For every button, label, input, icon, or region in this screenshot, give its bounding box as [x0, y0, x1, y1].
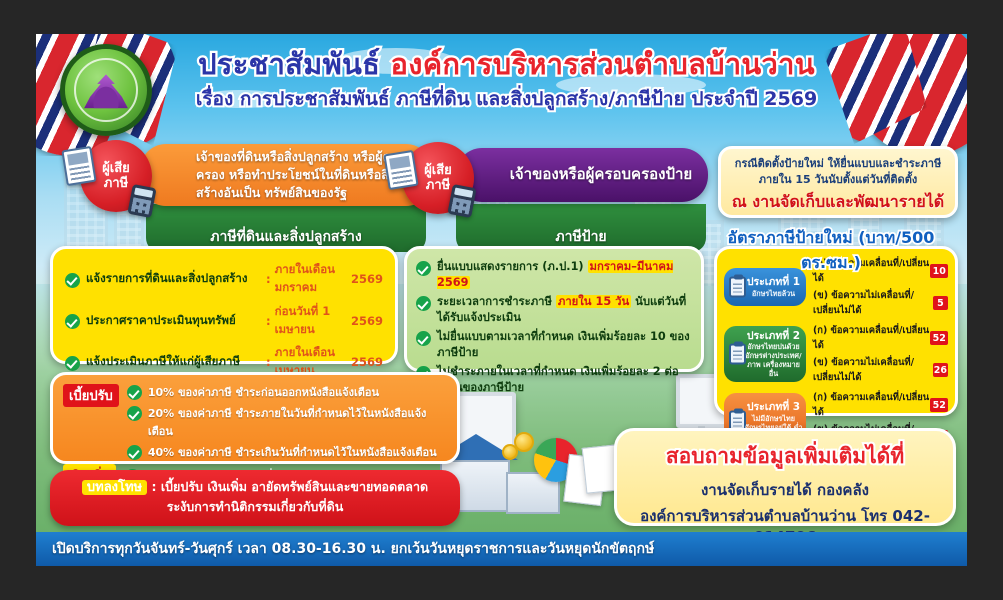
sign-tax-rules-box: ยื่นแบบแสดงรายการ (ภ.ป.1) มกราคม–มีนาคม …	[404, 246, 704, 372]
penalty-box: เบี้ยปรับ 10% ของค่าภาษี ชำระก่อนออกหนัง…	[50, 372, 460, 464]
category-title: ประเภทที่ 2	[747, 330, 800, 342]
sign-tax-tab-label: ภาษีป้าย	[456, 204, 706, 252]
rate-value: 52	[930, 398, 948, 412]
category-title: ประเภทที่ 3	[747, 401, 800, 413]
category-subtitle: อักษรไทยล้วน	[752, 289, 795, 298]
punishment-box: บทลงโทษ : เบี้ยปรับ เงินเพิ่ม อายัดทรัพย…	[50, 470, 460, 526]
notice-line-1: กรณีติดตั้งป้ายใหม่ ให้ยื่นแบบและชำระภาษ…	[729, 156, 947, 172]
check-icon	[127, 445, 142, 460]
rate-value: 26	[933, 363, 948, 377]
fine-line: 20% ของค่าภาษี ชำระภายในวันที่กำหนดไว้ใน…	[148, 404, 445, 440]
new-sign-notice-box: กรณีติดตั้งป้ายใหม่ ให้ยื่นแบบและชำระภาษ…	[718, 146, 958, 218]
badge-line-1: ผู้เสีย	[102, 161, 130, 176]
schedule-separator: :	[266, 314, 271, 328]
rate-line: (ก) ข้อความเคลื่อนที่/เปลี่ยนได้ 52	[813, 390, 948, 420]
list-item: ระยะเวลาการชำระภาษี ภายใน 15 วัน นับแต่ว…	[416, 294, 691, 325]
rate-description: (ก) ข้อความเคลื่อนที่/เปลี่ยนได้	[813, 323, 930, 353]
fine-line: 10% ของค่าภาษี ชำระก่อนออกหนังสือแจ้งเตื…	[148, 383, 379, 401]
rule-text: ระยะเวลาการชำระภาษี ภายใน 15 วัน นับแต่ว…	[437, 294, 691, 325]
schedule-label: ประกาศราคาประเมินทุนทรัพย์	[86, 312, 262, 330]
municipality-seal-logo	[60, 44, 152, 136]
rule-highlight: ภายใน 15 วัน	[556, 295, 631, 308]
table-row: แจ้งรายการที่ดินและสิ่งปลูกสร้าง : ภายใน…	[65, 261, 383, 297]
rule-text: ไม่ยื่นแบบตามเวลาที่กำหนด เงินเพิ่มร้อยล…	[437, 329, 691, 360]
footer-bar: เปิดบริการทุกวันจันทร์-วันศุกร์ เวลา 08.…	[36, 532, 967, 566]
title-part-announcement: ประชาสัมพันธ์	[198, 47, 390, 81]
sign-taxpayer-text: เจ้าของหรือผู้ครอบครองป้าย	[510, 164, 692, 185]
badge-line-2: ภาษี	[426, 178, 450, 193]
document-icon	[61, 146, 96, 186]
category-title: ประเภทที่ 1	[747, 276, 800, 288]
rate-description: (ก) ข้อความเคลื่อนที่/เปลี่ยนได้	[813, 390, 930, 420]
poster-title-block: ประชาสัมพันธ์ องค์การบริหารส่วนตำบลบ้านว…	[154, 48, 859, 114]
rate-value: 52	[930, 331, 948, 345]
list-item: 10% ของค่าภาษี ชำระก่อนออกหนังสือแจ้งเตื…	[127, 383, 445, 401]
punishment-line-2: ระงับการทำนิติกรรมเกี่ยวกับที่ดิน	[64, 497, 446, 517]
list-item: ยื่นแบบแสดงรายการ (ภ.ป.1) มกราคม–มีนาคม …	[416, 259, 691, 290]
footer-text: เปิดบริการทุกวันจันทร์-วันศุกร์ เวลา 08.…	[52, 538, 654, 560]
rule-text: ไม่ชำระภายในเวลาที่กำหนด เงินเพิ่มร้อยละ…	[437, 364, 691, 395]
rate-line: (ก) ข้อความเคลื่อนที่/เปลี่ยนได้ 52	[813, 323, 948, 353]
schedule-year: 2569	[347, 272, 383, 286]
rate-line: (ข) ข้อความไม่เคลื่อนที่/เปลี่ยนไม่ได้ 2…	[813, 355, 948, 385]
punishment-line-1: บทลงโทษ : เบี้ยปรับ เงินเพิ่ม อายัดทรัพย…	[64, 476, 446, 497]
rate-description: (ข) ข้อความไม่เคลื่อนที่/เปลี่ยนไม่ได้	[813, 355, 933, 385]
rate-table-heading: อัตราภาษีป้ายใหม่ (บาท/500 ตร.ซม.)	[696, 226, 966, 276]
notice-line-2: ภายใน 15 วันนับตั้งแต่วันที่ติดตั้ง	[729, 172, 947, 188]
notice-emphasis: ณ งานจัดเก็บและพัฒนารายได้	[729, 190, 947, 215]
rule-prefix: ยื่นแบบแสดงรายการ (ภ.ป.1)	[437, 260, 588, 273]
schedule-value: ก่อนวันที่ 1 เมษายน	[275, 303, 347, 339]
rate-description: (ข) ข้อความไม่เคลื่อนที่/เปลี่ยนไม่ได้	[813, 288, 933, 318]
check-icon	[127, 385, 142, 400]
schedule-value: ภายในเดือน มกราคม	[275, 261, 347, 297]
coin-illustration	[502, 444, 518, 460]
schedule-separator: :	[266, 355, 271, 369]
list-item: 40% ของค่าภาษี ชำระเกินวันที่กำหนดไว้ในห…	[127, 443, 445, 461]
penalty-fine-group: เบี้ยปรับ 10% ของค่าภาษี ชำระก่อนออกหนัง…	[63, 383, 445, 463]
document-icon	[383, 150, 418, 190]
schedule-year: 2569	[347, 314, 383, 328]
clipboard-check-icon	[729, 277, 746, 298]
contact-line-1: งานจัดเก็บรายได้ กองคลัง	[627, 478, 943, 502]
check-icon	[65, 273, 80, 288]
land-tax-tab-label: ภาษีที่ดินและสิ่งปลูกสร้าง	[146, 204, 426, 252]
page-title: ประชาสัมพันธ์ องค์การบริหารส่วนตำบลบ้านว…	[154, 48, 859, 80]
page-subtitle: เรื่อง การประชาสัมพันธ์ ภาษีที่ดิน และสิ…	[154, 84, 859, 114]
category-subtitle: อักษรไทยปนด้วย อักษรต่างประเทศ/ภาพ เครื่…	[744, 342, 803, 378]
rate-lines-group: (ก) ข้อความเคลื่อนที่/เปลี่ยนได้ 52 (ข) …	[813, 323, 948, 385]
rule-prefix: ระยะเวลาการชำระภาษี	[437, 295, 556, 308]
contact-box: สอบถามข้อมูลเพิ่มเติมได้ที่ งานจัดเก็บรา…	[614, 428, 956, 526]
check-icon	[416, 331, 431, 346]
check-icon	[65, 356, 80, 371]
schedule-year: 2569	[347, 355, 383, 369]
badge-line-1: ผู้เสีย	[424, 163, 452, 178]
check-icon	[416, 261, 431, 276]
fine-lines: 10% ของค่าภาษี ชำระก่อนออกหนังสือแจ้งเตื…	[127, 383, 445, 463]
table-row: ประกาศราคาประเมินทุนทรัพย์ : ก่อนวันที่ …	[65, 303, 383, 339]
rate-line: (ข) ข้อความไม่เคลื่อนที่/เปลี่ยนไม่ได้ 5	[813, 288, 948, 318]
schedule-label: แจ้งประเมินภาษีให้แก่ผู้เสียภาษี	[86, 353, 262, 371]
list-item: ไม่ยื่นแบบตามเวลาที่กำหนด เงินเพิ่มร้อยล…	[416, 329, 691, 360]
check-icon	[65, 314, 80, 329]
check-icon	[416, 296, 431, 311]
land-tax-schedule-box: แจ้งรายการที่ดินและสิ่งปลูกสร้าง : ภายใน…	[50, 246, 398, 364]
rule-text: ยื่นแบบแสดงรายการ (ภ.ป.1) มกราคม–มีนาคม …	[437, 259, 691, 290]
punishment-tag: บทลงโทษ	[82, 480, 147, 495]
fine-line: 40% ของค่าภาษี ชำระเกินวันที่กำหนดไว้ในห…	[148, 443, 437, 461]
contact-heading: สอบถามข้อมูลเพิ่มเติมได้ที่	[627, 440, 943, 473]
poster-canvas: ประชาสัมพันธ์ องค์การบริหารส่วนตำบลบ้านว…	[36, 34, 967, 566]
fine-tag: เบี้ยปรับ	[63, 384, 119, 407]
rate-category-2: ประเภทที่ 2 อักษรไทยปนด้วย อักษรต่างประเ…	[724, 326, 806, 382]
rate-value: 5	[933, 296, 948, 310]
title-part-organization: องค์การบริหารส่วนตำบลบ้านว่าน	[391, 47, 815, 81]
schedule-separator: :	[266, 272, 271, 286]
table-row: ประเภทที่ 2 อักษรไทยปนด้วย อักษรต่างประเ…	[724, 323, 948, 385]
check-icon	[127, 406, 142, 421]
badge-line-2: ภาษี	[104, 176, 128, 191]
punishment-text-1: : เบี้ยปรับ เงินเพิ่ม อายัดทรัพย์สินและข…	[152, 479, 429, 494]
sign-taxpayer-pill: เจ้าของหรือผู้ครอบครองป้าย	[456, 148, 708, 202]
schedule-label: แจ้งรายการที่ดินและสิ่งปลูกสร้าง	[86, 270, 262, 288]
list-item: 20% ของค่าภาษี ชำระภายในวันที่กำหนดไว้ใน…	[127, 404, 445, 440]
